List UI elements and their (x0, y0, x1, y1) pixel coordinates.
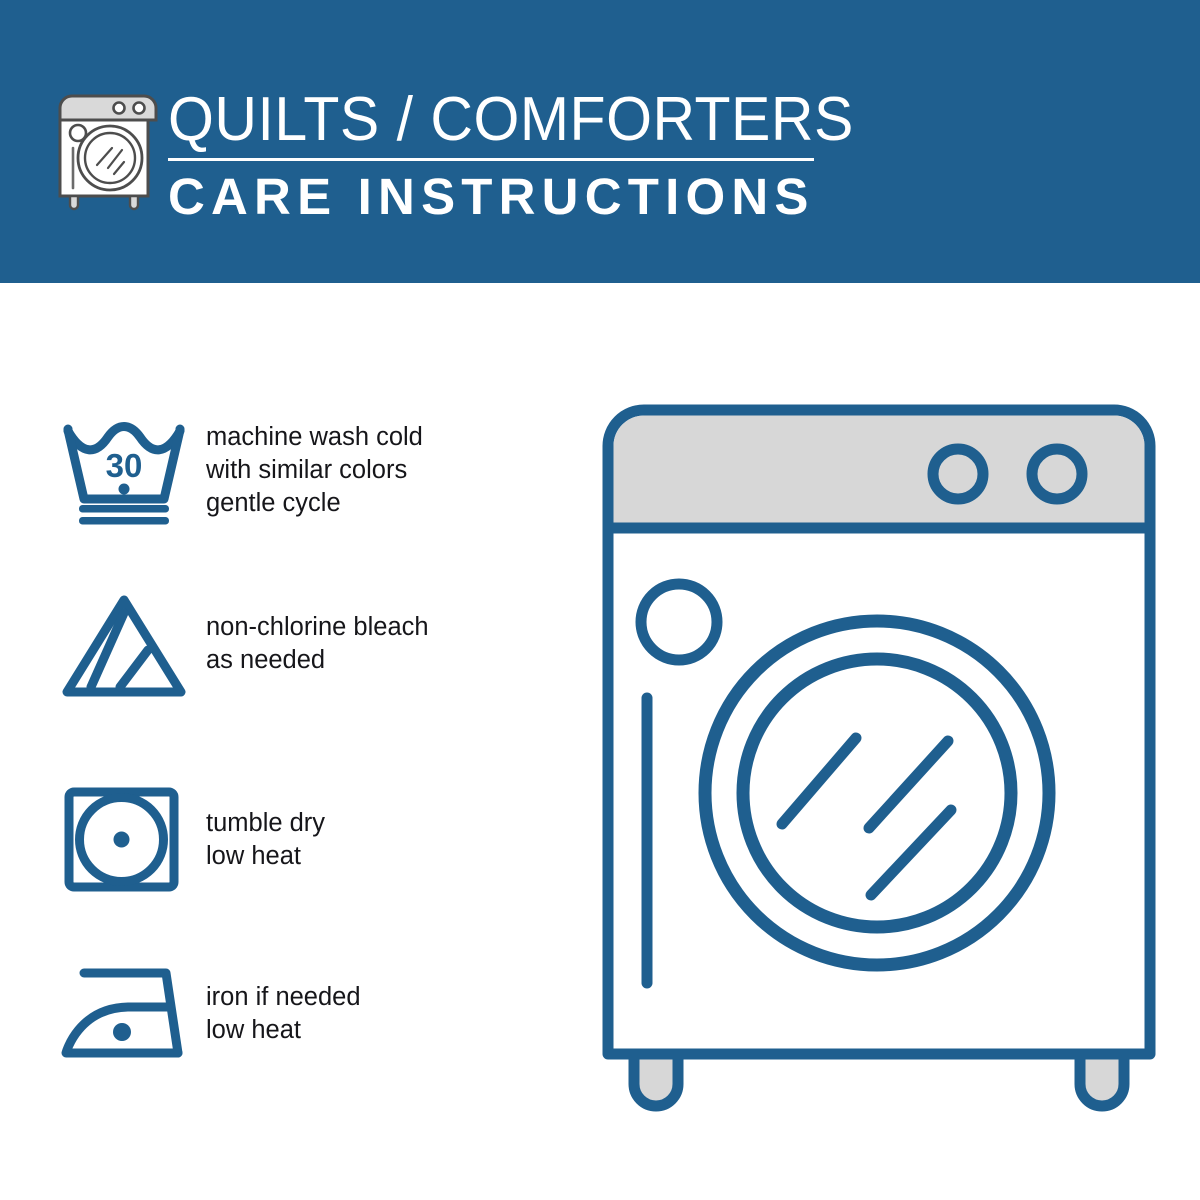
title-divider (168, 158, 814, 161)
iron-low-heat-icon (56, 959, 206, 1067)
non-chlorine-bleach-icon (56, 588, 206, 696)
list-item: non-chlorine bleach as needed (56, 588, 526, 696)
list-item-label: machine wash cold with similar colors ge… (206, 415, 423, 520)
care-instruction-list: 30 machine wash cold with similar colors… (0, 283, 560, 1200)
list-item-label: iron if needed low heat (206, 959, 361, 1047)
large-washing-machine-illustration (596, 398, 1168, 1120)
header-banner: QUILTS / COMFORTERS CARE INSTRUCTIONS (0, 0, 1200, 283)
wash-temperature-value: 30 (106, 447, 143, 484)
page-title-secondary: CARE INSTRUCTIONS (168, 168, 828, 226)
list-item: 30 machine wash cold with similar colors… (56, 415, 526, 523)
header-title-group: QUILTS / COMFORTERS CARE INSTRUCTIONS (168, 84, 828, 226)
list-item: tumble dry low heat (56, 783, 526, 891)
machine-wash-30-gentle-icon: 30 (56, 415, 206, 523)
list-item-label: tumble dry low heat (206, 783, 325, 873)
page-title-primary: QUILTS / COMFORTERS (168, 84, 828, 154)
list-item-label: non-chlorine bleach as needed (206, 588, 429, 677)
list-item: iron if needed low heat (56, 959, 526, 1067)
tumble-dry-low-icon (56, 783, 206, 891)
washing-machine-icon (52, 82, 164, 210)
